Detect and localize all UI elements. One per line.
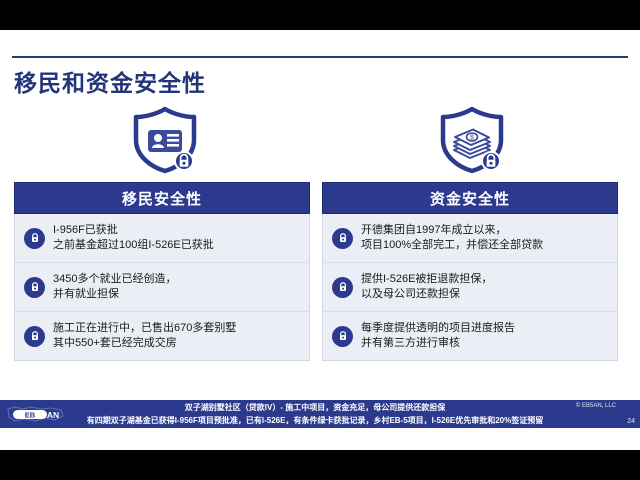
letterbox-top [0,0,640,30]
list-item: 3450多个就业已经创造， 并有就业担保 [15,262,309,311]
column-body-immigration: I-956F已获批 之前基金超过100组I-526E已获批 3450多个就业已经… [14,214,310,361]
column-header-fund: 资金安全性 [322,182,618,214]
column-body-fund: 开德集团自1997年成立以来， 项目100%全部完工，并偿还全部贷款 提供I-5… [322,214,618,361]
column-immigration-security: 移民安全性 I-956F已获批 之前基金超过100组I-526E已获批 [14,182,310,361]
list-item: 每季度提供透明的项目进度报告 并有第三方进行审核 [323,311,617,360]
list-item-text: 每季度提供透明的项目进度报告 并有第三方进行审核 [361,321,515,351]
list-item-text: 提供I-526E被拒退款担保， 以及母公司还款担保 [361,272,492,302]
list-item-text: 3450多个就业已经创造， 并有就业担保 [53,272,176,302]
lock-icon [24,228,45,249]
svg-text:EB: EB [25,410,36,419]
list-item-text: I-956F已获批 之前基金超过100组I-526E已获批 [53,223,214,253]
eb5an-logo: EB AN [5,403,67,425]
money-stack-shield-icon: $ [412,106,532,174]
id-card-shield-icon [105,106,225,174]
lock-icon [24,326,45,347]
page-number: 24 [627,418,635,425]
list-item: 提供I-526E被拒退款担保， 以及母公司还款担保 [323,262,617,311]
footer-line-1: 双子湖别墅社区（贷款IV）- 施工中项目，资金充足，母公司提供还款担保 [70,401,560,414]
lock-icon [332,228,353,249]
slide-canvas: 移民和资金安全性 $ [0,30,640,450]
column-fund-security: 资金安全性 开德集团自1997年成立以来， 项目100%全部完工，并偿还全部贷款 [322,182,618,361]
letterbox-bottom [0,450,640,480]
column-header-immigration: 移民安全性 [14,182,310,214]
svg-text:$: $ [470,135,474,142]
list-item-text: 施工正在进行中，已售出670多套别墅 其中550+套已经完成交房 [53,321,236,351]
lock-icon [332,326,353,347]
list-item: 施工正在进行中，已售出670多套别墅 其中550+套已经完成交房 [15,311,309,360]
title-divider [12,56,628,58]
footer-description: 双子湖别墅社区（贷款IV）- 施工中项目，资金充足，母公司提供还款担保 有四期双… [70,401,560,427]
lock-icon [24,277,45,298]
lock-icon [332,277,353,298]
footer-line-2: 有四期双子湖基金已获得I-956F项目预批准，已有I-526E，有条件绿卡获批记… [70,414,560,427]
svg-text:AN: AN [47,410,59,420]
copyright-text: © EB5AN, LLC [576,403,616,409]
slide-footer: EB AN 双子湖别墅社区（贷款IV）- 施工中项目，资金充足，母公司提供还款担… [0,400,640,428]
list-item-text: 开德集团自1997年成立以来， 项目100%全部完工，并偿还全部贷款 [361,223,543,253]
page-title: 移民和资金安全性 [14,64,206,98]
list-item: I-956F已获批 之前基金超过100组I-526E已获批 [15,214,309,262]
list-item: 开德集团自1997年成立以来， 项目100%全部完工，并偿还全部贷款 [323,214,617,262]
